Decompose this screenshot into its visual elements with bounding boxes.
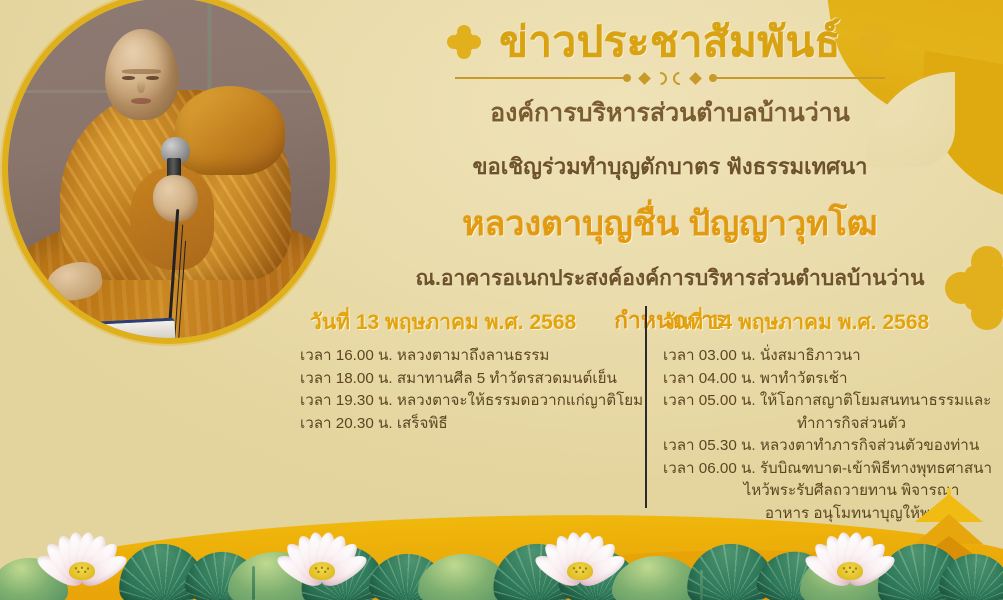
list-item: เวลา 20.30 น. เสร็จพิธี	[300, 413, 629, 436]
quatrefoil-ornament-left-icon	[447, 25, 481, 59]
lotus-stem	[700, 570, 703, 600]
lotus-flower	[790, 508, 910, 600]
lotus-flower	[520, 508, 640, 600]
left-eye-shape	[122, 76, 135, 80]
day2-title: วันที่ 14 พฤษภาคม พ.ศ. 2568	[663, 306, 1000, 339]
divider-curl-right-icon	[670, 69, 688, 87]
nose-shape	[137, 80, 144, 93]
organization-line: องค์การบริหารส่วนตำบลบ้านว่าน	[340, 93, 1000, 133]
list-item: เวลา 18.00 น. สมาทานศีล 5 ทำวัตรสวดมนต์เ…	[300, 368, 629, 391]
lotus-seed-pod	[837, 562, 863, 580]
divider-dot-left-icon	[623, 74, 631, 82]
page-title: ข่าวประชาสัมพันธ์	[499, 18, 841, 65]
poster-canvas: ข่าวประชาสัมพันธ์ องค์การบริหารส่วนตำบลบ…	[0, 0, 1003, 600]
robe-shoulder-shape	[175, 86, 284, 174]
list-item: เวลา 04.00 น. พาทำวัตรเช้า	[663, 368, 1000, 391]
lotus-seed-pod	[309, 562, 335, 580]
divider-bar-right	[715, 77, 885, 79]
divider-curl-left-icon	[651, 69, 669, 87]
monk-photo-background	[8, 0, 330, 338]
monk-name: หลวงตาบุญชื่น ปัญญาวุทโฒ	[340, 196, 1000, 250]
day1-item-list: เวลา 16.00 น. หลวงตามาถึงลานธรรม เวลา 18…	[300, 345, 629, 435]
mouth-shape	[131, 98, 150, 104]
lotus-flower	[262, 508, 382, 600]
divider-diamond-left-icon	[638, 72, 651, 85]
list-item: เวลา 03.00 น. นั่งสมาธิภาวนา	[663, 345, 1000, 368]
divider-diamond-right-icon	[689, 72, 702, 85]
list-item: เวลา 06.00 น. รับบิณฑบาต-เข้าพิธีทางพุทธ…	[663, 458, 1000, 481]
list-item-continuation: ทำการกิจส่วนตัว	[663, 413, 1000, 436]
quatrefoil-ornament-right-icon	[859, 25, 893, 59]
lotus-seed-pod	[567, 562, 593, 580]
ornamental-divider	[455, 71, 885, 85]
list-item: เวลา 05.30 น. หลวงตาทำภารกิจส่วนตัวของท่…	[663, 435, 1000, 458]
monk-head-shape	[105, 29, 179, 121]
monk-photo	[2, 0, 336, 344]
divider-bar-left	[455, 77, 625, 79]
lotus-flower	[22, 508, 142, 600]
poster-header: ข่าวประชาสัมพันธ์ องค์การบริหารส่วนตำบลบ…	[340, 18, 1000, 339]
lotus-stem	[252, 566, 255, 600]
venue-line: ณ.อาคารอเนกประสงค์องค์การบริหารส่วนตำบลบ…	[340, 262, 1000, 295]
list-item: เวลา 19.30 น. หลวงตาจะให้ธรรมดอวากแก่ญาต…	[300, 390, 629, 413]
list-item: เวลา 16.00 น. หลวงตามาถึงลานธรรม	[300, 345, 629, 368]
brow-shape	[122, 69, 161, 74]
right-eye-shape	[146, 76, 159, 80]
day1-title: วันที่ 13 พฤษภาคม พ.ศ. 2568	[300, 306, 629, 339]
list-item: เวลา 05.00 น. ให้โอกาสญาติโยมสนทนาธรรมแล…	[663, 390, 1000, 413]
lotus-seed-pod	[69, 562, 95, 580]
invitation-line: ขอเชิญร่วมทำบุญตักบาตร ฟังธรรมเทศนา	[340, 149, 1000, 184]
title-row: ข่าวประชาสัมพันธ์	[340, 18, 1000, 65]
bottom-decoration-band	[0, 488, 1003, 600]
